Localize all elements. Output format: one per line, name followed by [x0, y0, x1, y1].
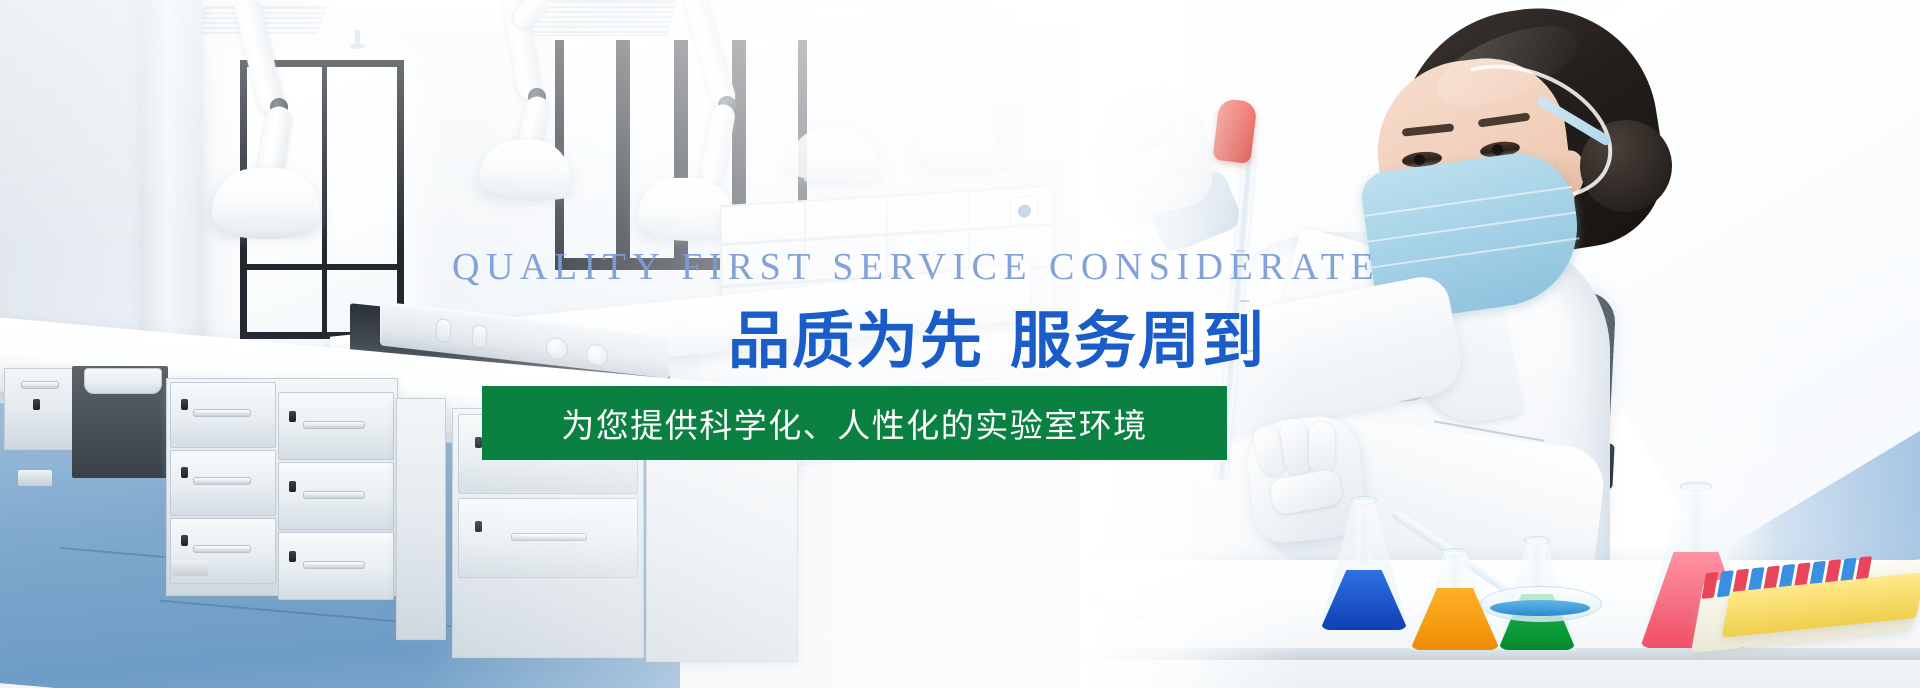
headline-part-1: 品质为先 — [728, 304, 984, 377]
promo-banner: QUALITY FIRST SERVICE CONSIDERATE 品质为先服务… — [0, 0, 1920, 688]
headline-part-2: 服务周到 — [1010, 304, 1266, 377]
english-tagline: QUALITY FIRST SERVICE CONSIDERATE — [452, 248, 1380, 286]
subtitle-bar: 为您提供科学化、人性化的实验室环境 — [482, 386, 1227, 460]
text-overlay: QUALITY FIRST SERVICE CONSIDERATE 品质为先服务… — [0, 0, 1920, 688]
subtitle-text: 为您提供科学化、人性化的实验室环境 — [561, 399, 1148, 447]
headline: 品质为先服务周到 — [728, 308, 1266, 375]
